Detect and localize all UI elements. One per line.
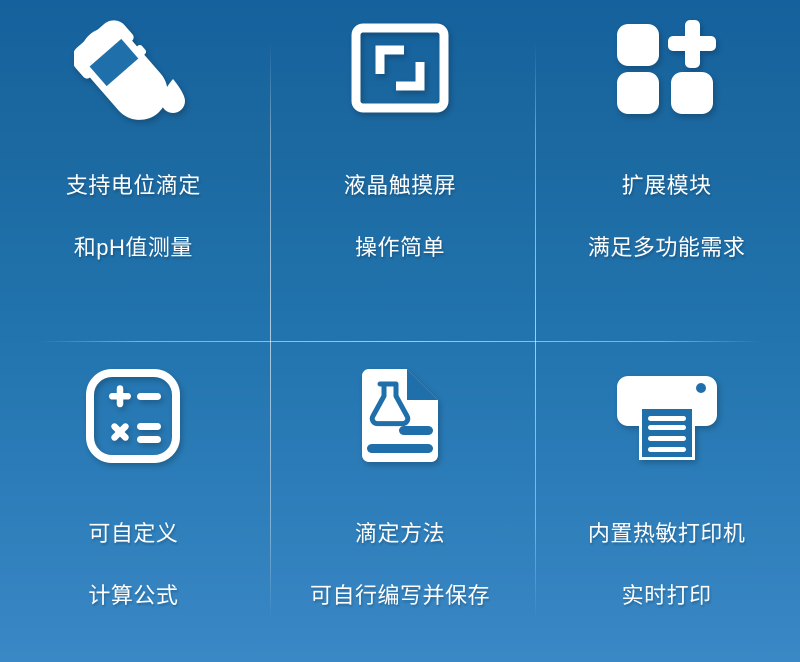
caption-line-2: 可自行编写并保存 — [310, 580, 490, 611]
feature-card-custom-formula[interactable]: 可自定义 计算公式 — [0, 331, 267, 662]
feature-caption: 扩展模块 满足多功能需求 — [588, 138, 746, 294]
modules-plus-icon — [615, 12, 719, 124]
caption-line-2: 计算公式 — [88, 580, 178, 611]
flask-document-icon — [354, 360, 446, 472]
caption-line-2: 满足多功能需求 — [588, 232, 746, 263]
caption-line-1: 滴定方法 — [310, 518, 490, 549]
feature-card-expansion-modules[interactable]: 扩展模块 满足多功能需求 — [533, 0, 800, 331]
feature-caption: 液晶触摸屏 操作简单 — [344, 138, 457, 294]
caption-line-2: 和pH值测量 — [66, 232, 201, 263]
caption-line-2: 实时打印 — [588, 580, 746, 611]
test-tube-drop-icon — [74, 12, 192, 124]
caption-line-1: 内置热敏打印机 — [588, 518, 746, 549]
caption-line-1: 可自定义 — [88, 518, 178, 549]
feature-grid: 支持电位滴定 和pH值测量 液晶触摸屏 操作简单 — [0, 0, 800, 662]
calculator-icon — [85, 360, 181, 472]
feature-card-lcd-touchscreen[interactable]: 液晶触摸屏 操作简单 — [267, 0, 534, 331]
feature-card-thermal-printer[interactable]: 内置热敏打印机 实时打印 — [533, 331, 800, 662]
feature-caption: 支持电位滴定 和pH值测量 — [66, 138, 201, 294]
touchscreen-display-icon — [350, 12, 450, 124]
caption-line-1: 液晶触摸屏 — [344, 170, 457, 201]
caption-line-1: 支持电位滴定 — [66, 170, 201, 201]
feature-caption: 可自定义 计算公式 — [88, 486, 178, 642]
feature-caption: 内置热敏打印机 实时打印 — [588, 486, 746, 642]
feature-card-titration-method[interactable]: 滴定方法 可自行编写并保存 — [267, 331, 534, 662]
feature-card-potentiometric-titration[interactable]: 支持电位滴定 和pH值测量 — [0, 0, 267, 331]
caption-line-1: 扩展模块 — [588, 170, 746, 201]
feature-caption: 滴定方法 可自行编写并保存 — [310, 486, 490, 642]
caption-line-2: 操作简单 — [344, 232, 457, 263]
printer-icon — [613, 360, 721, 472]
